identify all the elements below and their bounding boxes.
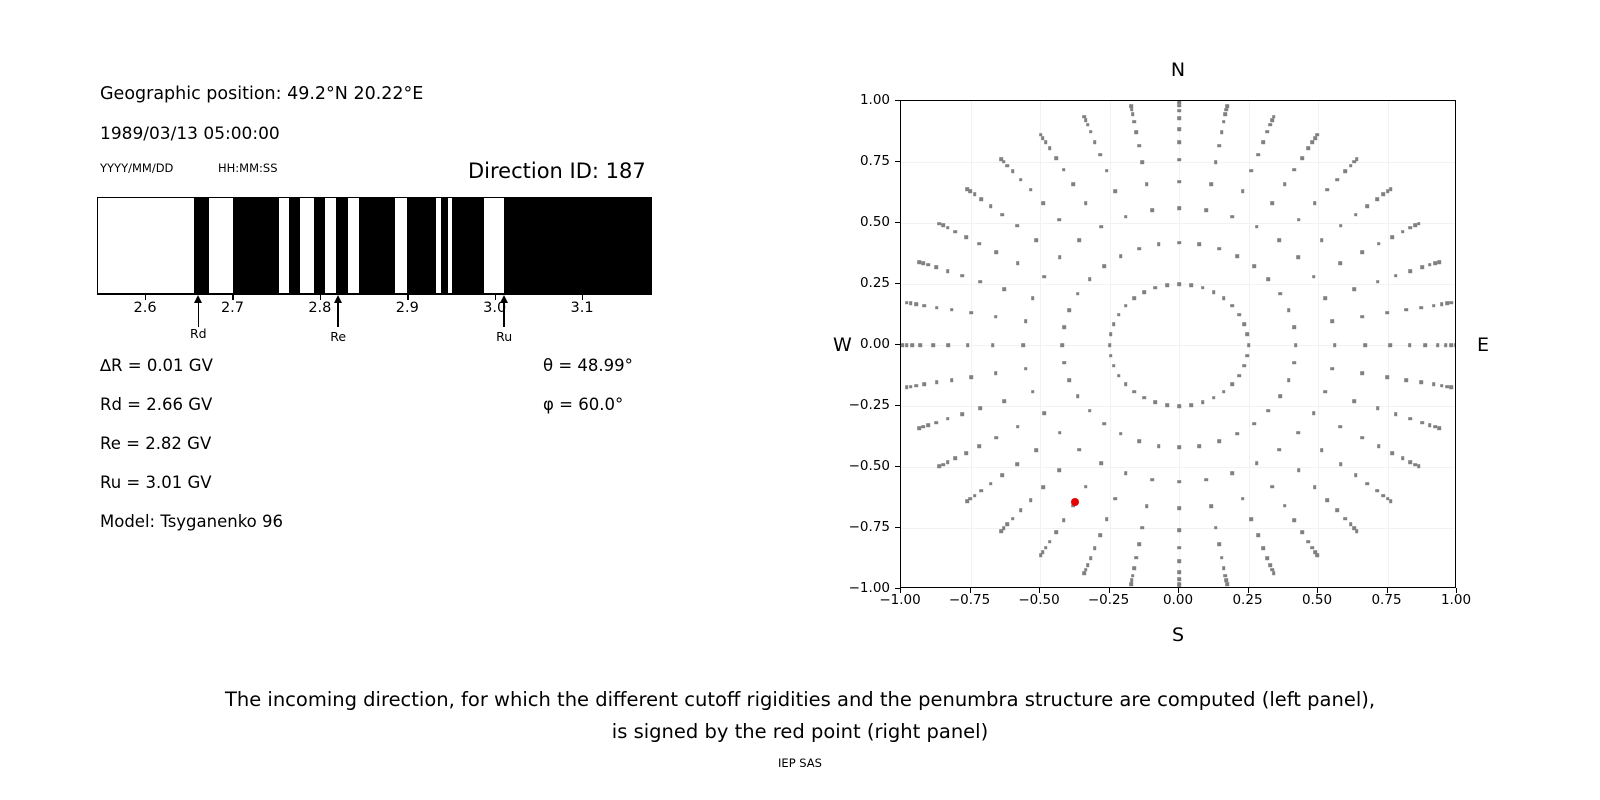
gridline-vertical	[971, 101, 972, 587]
direction-point	[1339, 261, 1343, 265]
direction-point	[1137, 144, 1141, 148]
direction-point	[1401, 457, 1405, 461]
penumbra-axis-tick-label: 2.8	[308, 300, 331, 316]
direction-point	[966, 343, 970, 347]
direction-point	[1313, 136, 1317, 140]
direction-point	[1335, 178, 1339, 182]
direction-point	[1112, 322, 1116, 326]
direction-point	[989, 482, 993, 486]
direction-point	[1382, 193, 1386, 197]
direction-point	[1217, 144, 1221, 148]
gridline-horizontal	[901, 467, 1455, 468]
direction-point	[1054, 156, 1058, 160]
direction-point	[969, 375, 973, 379]
direction-point	[1099, 462, 1103, 466]
direction-point	[979, 197, 983, 201]
y-axis-tick-label: −0.50	[849, 458, 890, 474]
direction-point	[1153, 401, 1157, 405]
direction-point	[1249, 517, 1253, 521]
penumbra-forbidden-band	[452, 198, 484, 293]
direction-point	[1225, 582, 1229, 586]
direction-point	[1312, 412, 1316, 416]
direction-point	[1243, 322, 1247, 326]
direction-point	[1292, 325, 1296, 329]
direction-point	[1361, 315, 1365, 319]
direction-point	[1277, 239, 1281, 243]
direction-point	[977, 444, 981, 448]
direction-point	[1355, 529, 1359, 533]
direction-point	[1390, 235, 1394, 239]
direction-point	[1109, 333, 1113, 337]
direction-point	[965, 187, 969, 191]
direction-point	[935, 306, 939, 310]
x-axis-tick-label: 0.00	[1163, 592, 1193, 608]
direction-point	[1323, 296, 1327, 300]
direction-point	[1277, 448, 1281, 452]
direction-point	[1293, 519, 1297, 523]
direction-point	[1375, 489, 1379, 493]
direction-point	[1108, 343, 1112, 347]
direction-point	[1224, 113, 1228, 117]
compass-label-east: E	[1477, 334, 1489, 356]
direction-point	[1225, 108, 1229, 112]
direction-point	[1142, 396, 1146, 400]
direction-point	[1197, 242, 1201, 246]
penumbra-axis-tick-label: 2.6	[134, 300, 157, 316]
direction-point	[1326, 498, 1330, 502]
direction-point	[1044, 140, 1048, 144]
direction-point	[1316, 553, 1320, 557]
direction-point	[1083, 571, 1087, 575]
direction-point	[1420, 266, 1424, 270]
direction-point	[1437, 426, 1441, 430]
direction-point	[965, 499, 969, 503]
direction-point	[917, 426, 921, 430]
penumbra-chart	[97, 197, 652, 294]
direction-point	[1437, 260, 1441, 264]
direction-point	[1313, 485, 1317, 489]
direction-point	[1432, 304, 1436, 308]
direction-point	[1177, 529, 1181, 533]
penumbra-forbidden-band	[407, 198, 436, 293]
direction-point	[1417, 222, 1421, 226]
direction-point	[1292, 361, 1296, 365]
direction-point	[1006, 164, 1010, 168]
direction-point	[1041, 485, 1045, 489]
direction-point	[1177, 104, 1181, 108]
direction-point	[941, 463, 945, 467]
direction-point	[1204, 478, 1208, 482]
rigidity-arrow-label-ru: Ru	[496, 329, 512, 344]
direction-point	[935, 381, 939, 385]
direction-point	[914, 303, 918, 307]
direction-point	[1099, 225, 1103, 229]
direction-point	[1237, 374, 1241, 378]
direction-point	[905, 385, 909, 389]
direction-point	[960, 412, 964, 416]
compass-label-south: S	[1172, 624, 1184, 646]
direction-point	[1366, 204, 1370, 208]
direction-point	[1084, 119, 1088, 123]
direction-point	[1062, 168, 1066, 172]
direction-id-label: Direction ID: 187	[468, 159, 646, 183]
direction-point	[1077, 448, 1081, 452]
direction-point	[1153, 286, 1157, 290]
direction-point	[1076, 394, 1080, 398]
direction-point	[901, 343, 905, 347]
direction-point	[1311, 140, 1315, 144]
y-axis-tick	[895, 588, 900, 589]
param-phi: φ = 60.0°	[543, 395, 623, 414]
y-axis-tick-label: 0.25	[860, 275, 890, 291]
direction-point	[1131, 574, 1135, 578]
y-axis-tick	[895, 100, 900, 101]
direction-point	[1189, 283, 1193, 287]
direction-point	[921, 425, 925, 429]
direction-point	[1098, 534, 1102, 538]
geographic-position-label: Geographic position: 49.2°N 20.22°E	[100, 84, 423, 104]
direction-point	[909, 385, 913, 389]
direction-point	[950, 308, 954, 312]
direction-point	[1109, 354, 1113, 358]
direction-point	[979, 280, 983, 284]
direction-point	[1222, 296, 1226, 300]
direction-point	[1048, 147, 1052, 151]
direction-point	[1177, 100, 1181, 104]
direction-point	[1366, 482, 1370, 486]
param-model: Model: Tsyganenko 96	[100, 512, 283, 531]
direction-point	[973, 193, 977, 197]
direction-point	[1016, 261, 1020, 265]
direction-point	[1098, 153, 1102, 157]
direction-point	[1230, 382, 1234, 386]
y-axis-tick-label: 0.75	[860, 153, 890, 169]
direction-point	[934, 266, 938, 270]
direction-point	[1446, 385, 1450, 389]
direction-point	[1278, 292, 1282, 296]
direction-point	[1408, 460, 1412, 464]
direction-point	[1272, 115, 1276, 119]
direction-point	[1377, 444, 1381, 448]
direction-point	[1145, 504, 1149, 508]
direction-point	[1252, 265, 1256, 269]
direction-point	[1297, 218, 1301, 222]
direction-point	[1222, 567, 1226, 571]
direction-point	[1042, 275, 1046, 279]
rigidity-arrow-ru	[503, 301, 505, 327]
penumbra-axis-tick-label: 2.9	[396, 300, 419, 316]
direction-point	[1249, 169, 1253, 173]
direction-point	[994, 372, 998, 376]
x-axis-tick-label: 0.25	[1232, 592, 1262, 608]
direction-point	[1024, 319, 1028, 323]
y-axis-tick-label: −1.00	[849, 580, 890, 596]
direction-point	[1287, 378, 1291, 382]
direction-point	[1088, 409, 1092, 413]
direction-point	[1237, 313, 1241, 317]
direction-point	[1404, 378, 1408, 382]
direction-point	[1343, 517, 1347, 521]
direction-point	[999, 157, 1003, 161]
direction-point	[1150, 209, 1154, 213]
direction-point	[1293, 168, 1297, 172]
direction-point	[1256, 153, 1260, 157]
y-axis-tick	[895, 161, 900, 162]
direction-point	[1102, 265, 1106, 269]
direction-point	[1086, 563, 1090, 567]
direction-point	[1306, 147, 1310, 151]
direction-point	[1436, 343, 1440, 347]
direction-point	[1177, 180, 1181, 184]
direction-point	[909, 302, 913, 306]
direction-point	[914, 384, 918, 388]
y-axis-tick	[895, 344, 900, 345]
direction-point	[1000, 473, 1004, 477]
direction-point	[905, 343, 909, 347]
direction-point	[1394, 274, 1398, 278]
direction-point	[1141, 161, 1145, 165]
direction-point	[1177, 559, 1181, 563]
selected-direction-marker[interactable]	[1071, 498, 1079, 506]
direction-point	[1220, 556, 1224, 560]
direction-point	[946, 417, 950, 421]
direction-point	[1268, 123, 1272, 127]
direction-point	[1339, 462, 1343, 466]
direction-point	[953, 230, 957, 234]
direction-point	[953, 457, 957, 461]
direction-point	[1137, 247, 1141, 251]
direction-point	[1270, 119, 1274, 123]
direction-point	[938, 465, 942, 469]
direction-point	[1440, 303, 1444, 307]
direction-point	[1133, 296, 1137, 300]
direction-point	[1016, 425, 1020, 429]
direction-point	[1039, 133, 1043, 137]
direction-point	[989, 204, 993, 208]
direction-point	[1124, 382, 1128, 386]
direction-point	[1432, 383, 1436, 387]
direction-point	[1428, 423, 1432, 427]
direction-point	[1408, 343, 1412, 347]
y-axis-tick-label: −0.75	[849, 519, 890, 535]
direction-point	[1062, 325, 1066, 329]
direction-point	[1214, 161, 1218, 165]
direction-point	[1084, 202, 1088, 206]
direction-point	[1015, 224, 1019, 228]
direction-point	[1093, 546, 1097, 550]
rigidity-arrow-head-rd	[194, 295, 202, 303]
direction-point	[1423, 343, 1427, 347]
direction-point	[1210, 182, 1214, 186]
direction-point	[1428, 263, 1432, 267]
direction-point	[1217, 543, 1221, 547]
direction-point	[1072, 183, 1076, 187]
rigidity-arrow-re	[337, 301, 339, 327]
direction-point	[1408, 417, 1412, 421]
direction-point	[938, 222, 942, 226]
gridline-horizontal	[901, 162, 1455, 163]
penumbra-forbidden-band	[289, 198, 299, 293]
direction-point	[1255, 462, 1259, 466]
direction-point	[979, 407, 983, 411]
penumbra-forbidden-band	[233, 198, 278, 293]
direction-point	[1326, 188, 1330, 192]
y-axis-tick	[895, 405, 900, 406]
direction-point	[1440, 384, 1444, 388]
direction-point	[1201, 286, 1205, 290]
direction-point	[1130, 108, 1134, 112]
direction-point	[1446, 302, 1450, 306]
direction-point	[1390, 451, 1394, 455]
direction-point	[1031, 296, 1035, 300]
direction-point	[1177, 241, 1181, 245]
direction-point	[1272, 571, 1276, 575]
direction-point	[1212, 290, 1216, 294]
direction-point	[977, 242, 981, 246]
y-axis-tick-label: 1.00	[860, 92, 890, 108]
direction-point	[1385, 375, 1389, 379]
direction-point	[1417, 465, 1421, 469]
direction-point	[1241, 497, 1245, 501]
direction-point	[1024, 367, 1028, 371]
direction-point	[960, 274, 964, 278]
direction-point	[1089, 130, 1093, 134]
direction-point	[1217, 247, 1221, 251]
penumbra-axis	[97, 294, 652, 304]
caption-line-1: The incoming direction, for which the di…	[0, 684, 1600, 716]
y-axis-tick	[895, 466, 900, 467]
direction-point	[1197, 444, 1201, 448]
datetime-label: 1989/03/13 05:00:00	[100, 124, 280, 144]
direction-point	[1041, 201, 1045, 205]
direction-point	[1088, 277, 1092, 281]
direction-point	[923, 383, 927, 387]
direction-point	[1444, 343, 1448, 347]
direction-point	[1354, 473, 1358, 477]
date-format-hint: YYYY/MM/DD	[100, 161, 173, 175]
direction-point	[1124, 215, 1128, 219]
direction-point	[1331, 319, 1335, 323]
direction-point	[1131, 113, 1135, 117]
direction-point	[1089, 556, 1093, 560]
direction-point	[1268, 563, 1272, 567]
direction-point	[1057, 468, 1061, 472]
direction-point	[1142, 290, 1146, 294]
direction-point	[1132, 567, 1136, 571]
direction-point	[1261, 140, 1265, 144]
direction-point	[1011, 517, 1015, 521]
direction-point	[1177, 109, 1181, 113]
direction-point	[1222, 390, 1226, 394]
direction-point	[1141, 526, 1145, 530]
direction-point	[969, 311, 973, 315]
direction-point	[1454, 343, 1456, 347]
direction-point	[917, 260, 921, 264]
direction-point	[1086, 123, 1090, 127]
direction-point	[1102, 422, 1106, 426]
direction-point	[1067, 308, 1071, 312]
direction-point	[973, 494, 977, 498]
direction-point	[1419, 306, 1423, 310]
y-axis-tick	[895, 527, 900, 528]
direction-point	[1076, 292, 1080, 296]
direction-point	[1042, 412, 1046, 416]
direction-point	[950, 378, 954, 382]
x-axis-tick-label: −0.50	[1018, 592, 1059, 608]
direction-point	[1360, 250, 1364, 254]
direction-point	[1355, 157, 1359, 161]
direction-point	[1157, 242, 1161, 246]
direction-point	[1296, 255, 1300, 259]
direction-point	[1236, 254, 1240, 258]
direction-point	[1177, 141, 1181, 145]
direction-point	[1278, 394, 1282, 398]
direction-point	[931, 343, 935, 347]
direction-point	[1261, 546, 1265, 550]
direction-point	[1210, 504, 1214, 508]
x-axis-tick-label: 0.75	[1371, 592, 1401, 608]
direction-point	[1062, 519, 1066, 523]
direction-point	[1394, 412, 1398, 416]
direction-point	[1048, 540, 1052, 544]
x-axis-tick-label: −0.75	[949, 592, 990, 608]
direction-point	[1255, 225, 1259, 229]
direction-point	[1388, 343, 1392, 347]
direction-point	[1177, 158, 1181, 162]
direction-map-plot-area	[900, 100, 1456, 588]
direction-point	[1058, 255, 1062, 259]
direction-point	[1177, 546, 1181, 550]
direction-point	[1035, 238, 1039, 242]
direction-point	[1323, 390, 1327, 394]
direction-point	[1283, 504, 1287, 508]
direction-point	[1382, 494, 1386, 498]
direction-point	[1419, 381, 1423, 385]
direction-point	[1044, 546, 1048, 550]
direction-point	[1177, 507, 1181, 511]
direction-point	[1450, 385, 1454, 389]
direction-point	[1177, 570, 1181, 574]
direction-point	[1297, 468, 1301, 472]
direction-point	[1011, 169, 1015, 173]
direction-point	[969, 189, 973, 193]
direction-point	[999, 529, 1003, 533]
rigidity-arrow-label-re: Re	[330, 329, 346, 344]
direction-point	[1230, 215, 1234, 219]
direction-point	[1375, 197, 1379, 201]
direction-point	[1404, 308, 1408, 312]
direction-point	[1083, 115, 1087, 119]
direction-point	[946, 226, 950, 230]
direction-point	[1002, 287, 1006, 291]
direction-point	[1267, 409, 1271, 413]
direction-point	[1377, 242, 1381, 246]
direction-point	[1376, 407, 1380, 411]
direction-point	[1230, 472, 1234, 476]
direction-point	[1220, 131, 1224, 135]
direction-point	[941, 224, 945, 228]
direction-point	[1031, 390, 1035, 394]
direction-point	[1177, 480, 1181, 484]
direction-point	[1214, 526, 1218, 530]
direction-point	[1270, 485, 1274, 489]
direction-point	[1408, 226, 1412, 230]
direction-point	[1133, 390, 1137, 394]
y-axis-tick-label: 0.00	[860, 336, 890, 352]
direction-point	[1225, 104, 1229, 108]
direction-point	[1224, 574, 1228, 578]
direction-point	[1029, 498, 1033, 502]
